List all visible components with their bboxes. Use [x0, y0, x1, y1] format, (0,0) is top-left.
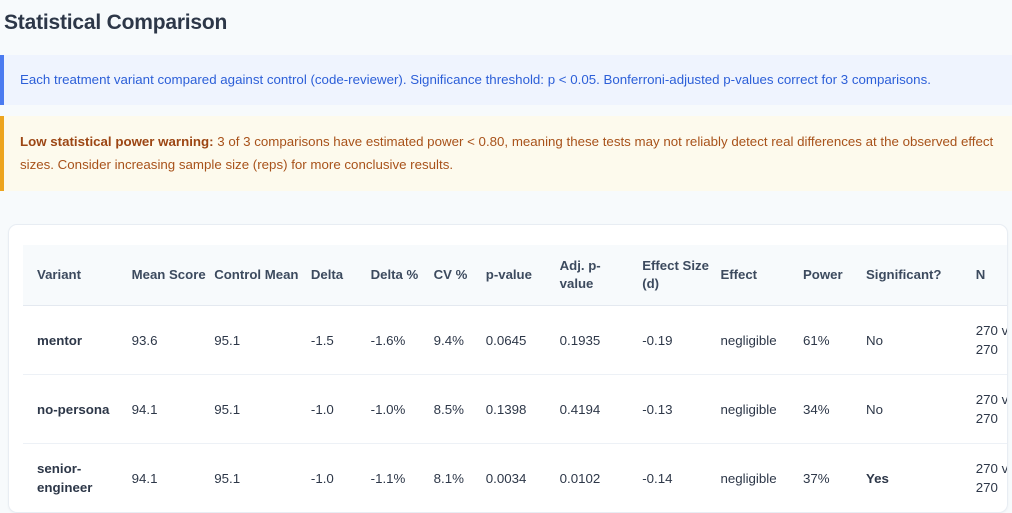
cell-delta-pct: -1.0%	[371, 375, 434, 444]
cell-cv-pct: 8.5%	[434, 375, 486, 444]
column-header-delta-pct[interactable]: Delta %	[371, 245, 434, 306]
cell-power: 61%	[803, 306, 866, 375]
cell-effect-size: -0.19	[642, 306, 720, 375]
cell-mean-score: 94.1	[132, 375, 215, 444]
stats-table-header-row: Variant Mean Score Control Mean Delta De…	[23, 245, 1008, 306]
column-header-n[interactable]: N	[976, 245, 1008, 306]
column-header-p-value[interactable]: p-value	[486, 245, 560, 306]
cell-significant: Yes	[866, 444, 976, 513]
cell-adj-p-value: 0.1935	[560, 306, 643, 375]
column-header-adj-p-value[interactable]: Adj. p-value	[560, 245, 643, 306]
cell-cv-pct: 8.1%	[434, 444, 486, 513]
cell-p-value: 0.0645	[486, 306, 560, 375]
cell-control-mean: 95.1	[214, 375, 311, 444]
cell-adj-p-value: 0.0102	[560, 444, 643, 513]
info-banner-text: Each treatment variant compared against …	[20, 72, 931, 87]
table-row[interactable]: senior-engineer 94.1 95.1 -1.0 -1.1% 8.1…	[23, 444, 1008, 513]
cell-delta: -1.5	[311, 306, 371, 375]
table-row[interactable]: mentor 93.6 95.1 -1.5 -1.6% 9.4% 0.0645 …	[23, 306, 1008, 375]
cell-control-mean: 95.1	[214, 444, 311, 513]
cell-variant: mentor	[23, 306, 132, 375]
cell-n: 270 vs 270	[976, 444, 1008, 513]
cell-p-value: 0.1398	[486, 375, 560, 444]
stats-table-card: Variant Mean Score Control Mean Delta De…	[8, 224, 1008, 513]
info-banner: Each treatment variant compared against …	[0, 55, 1012, 105]
stats-table: Variant Mean Score Control Mean Delta De…	[23, 245, 1008, 512]
cell-power: 37%	[803, 444, 866, 513]
cell-effect: negligible	[720, 306, 803, 375]
cell-delta-pct: -1.1%	[371, 444, 434, 513]
table-row[interactable]: no-persona 94.1 95.1 -1.0 -1.0% 8.5% 0.1…	[23, 375, 1008, 444]
cell-cv-pct: 9.4%	[434, 306, 486, 375]
cell-adj-p-value: 0.4194	[560, 375, 643, 444]
cell-delta: -1.0	[311, 375, 371, 444]
cell-significant: No	[866, 375, 976, 444]
column-header-variant[interactable]: Variant	[23, 245, 132, 306]
column-header-delta[interactable]: Delta	[311, 245, 371, 306]
low-power-warning-banner: Low statistical power warning: 3 of 3 co…	[0, 116, 1012, 191]
stats-table-head: Variant Mean Score Control Mean Delta De…	[23, 245, 1008, 306]
cell-power: 34%	[803, 375, 866, 444]
cell-effect-size: -0.14	[642, 444, 720, 513]
cell-control-mean: 95.1	[214, 306, 311, 375]
column-header-cv-pct[interactable]: CV %	[434, 245, 486, 306]
column-header-control-mean[interactable]: Control Mean	[214, 245, 311, 306]
low-power-warning-label: Low statistical power warning:	[20, 134, 214, 149]
column-header-effect-size[interactable]: Effect Size (d)	[642, 245, 720, 306]
cell-delta-pct: -1.6%	[371, 306, 434, 375]
column-header-power[interactable]: Power	[803, 245, 866, 306]
cell-variant: no-persona	[23, 375, 132, 444]
cell-significant: No	[866, 306, 976, 375]
column-header-significant[interactable]: Significant?	[866, 245, 976, 306]
cell-delta: -1.0	[311, 444, 371, 513]
page-title: Statistical Comparison	[0, 0, 1012, 37]
cell-effect: negligible	[720, 375, 803, 444]
cell-p-value: 0.0034	[486, 444, 560, 513]
cell-variant: senior-engineer	[23, 444, 132, 513]
stats-table-body: mentor 93.6 95.1 -1.5 -1.6% 9.4% 0.0645 …	[23, 306, 1008, 513]
cell-effect-size: -0.13	[642, 375, 720, 444]
cell-effect: negligible	[720, 444, 803, 513]
cell-n: 270 vs 270	[976, 306, 1008, 375]
cell-mean-score: 94.1	[132, 444, 215, 513]
cell-mean-score: 93.6	[132, 306, 215, 375]
column-header-effect[interactable]: Effect	[720, 245, 803, 306]
cell-n: 270 vs 270	[976, 375, 1008, 444]
column-header-mean-score[interactable]: Mean Score	[132, 245, 215, 306]
statistical-comparison-page: Statistical Comparison Each treatment va…	[0, 0, 1012, 503]
